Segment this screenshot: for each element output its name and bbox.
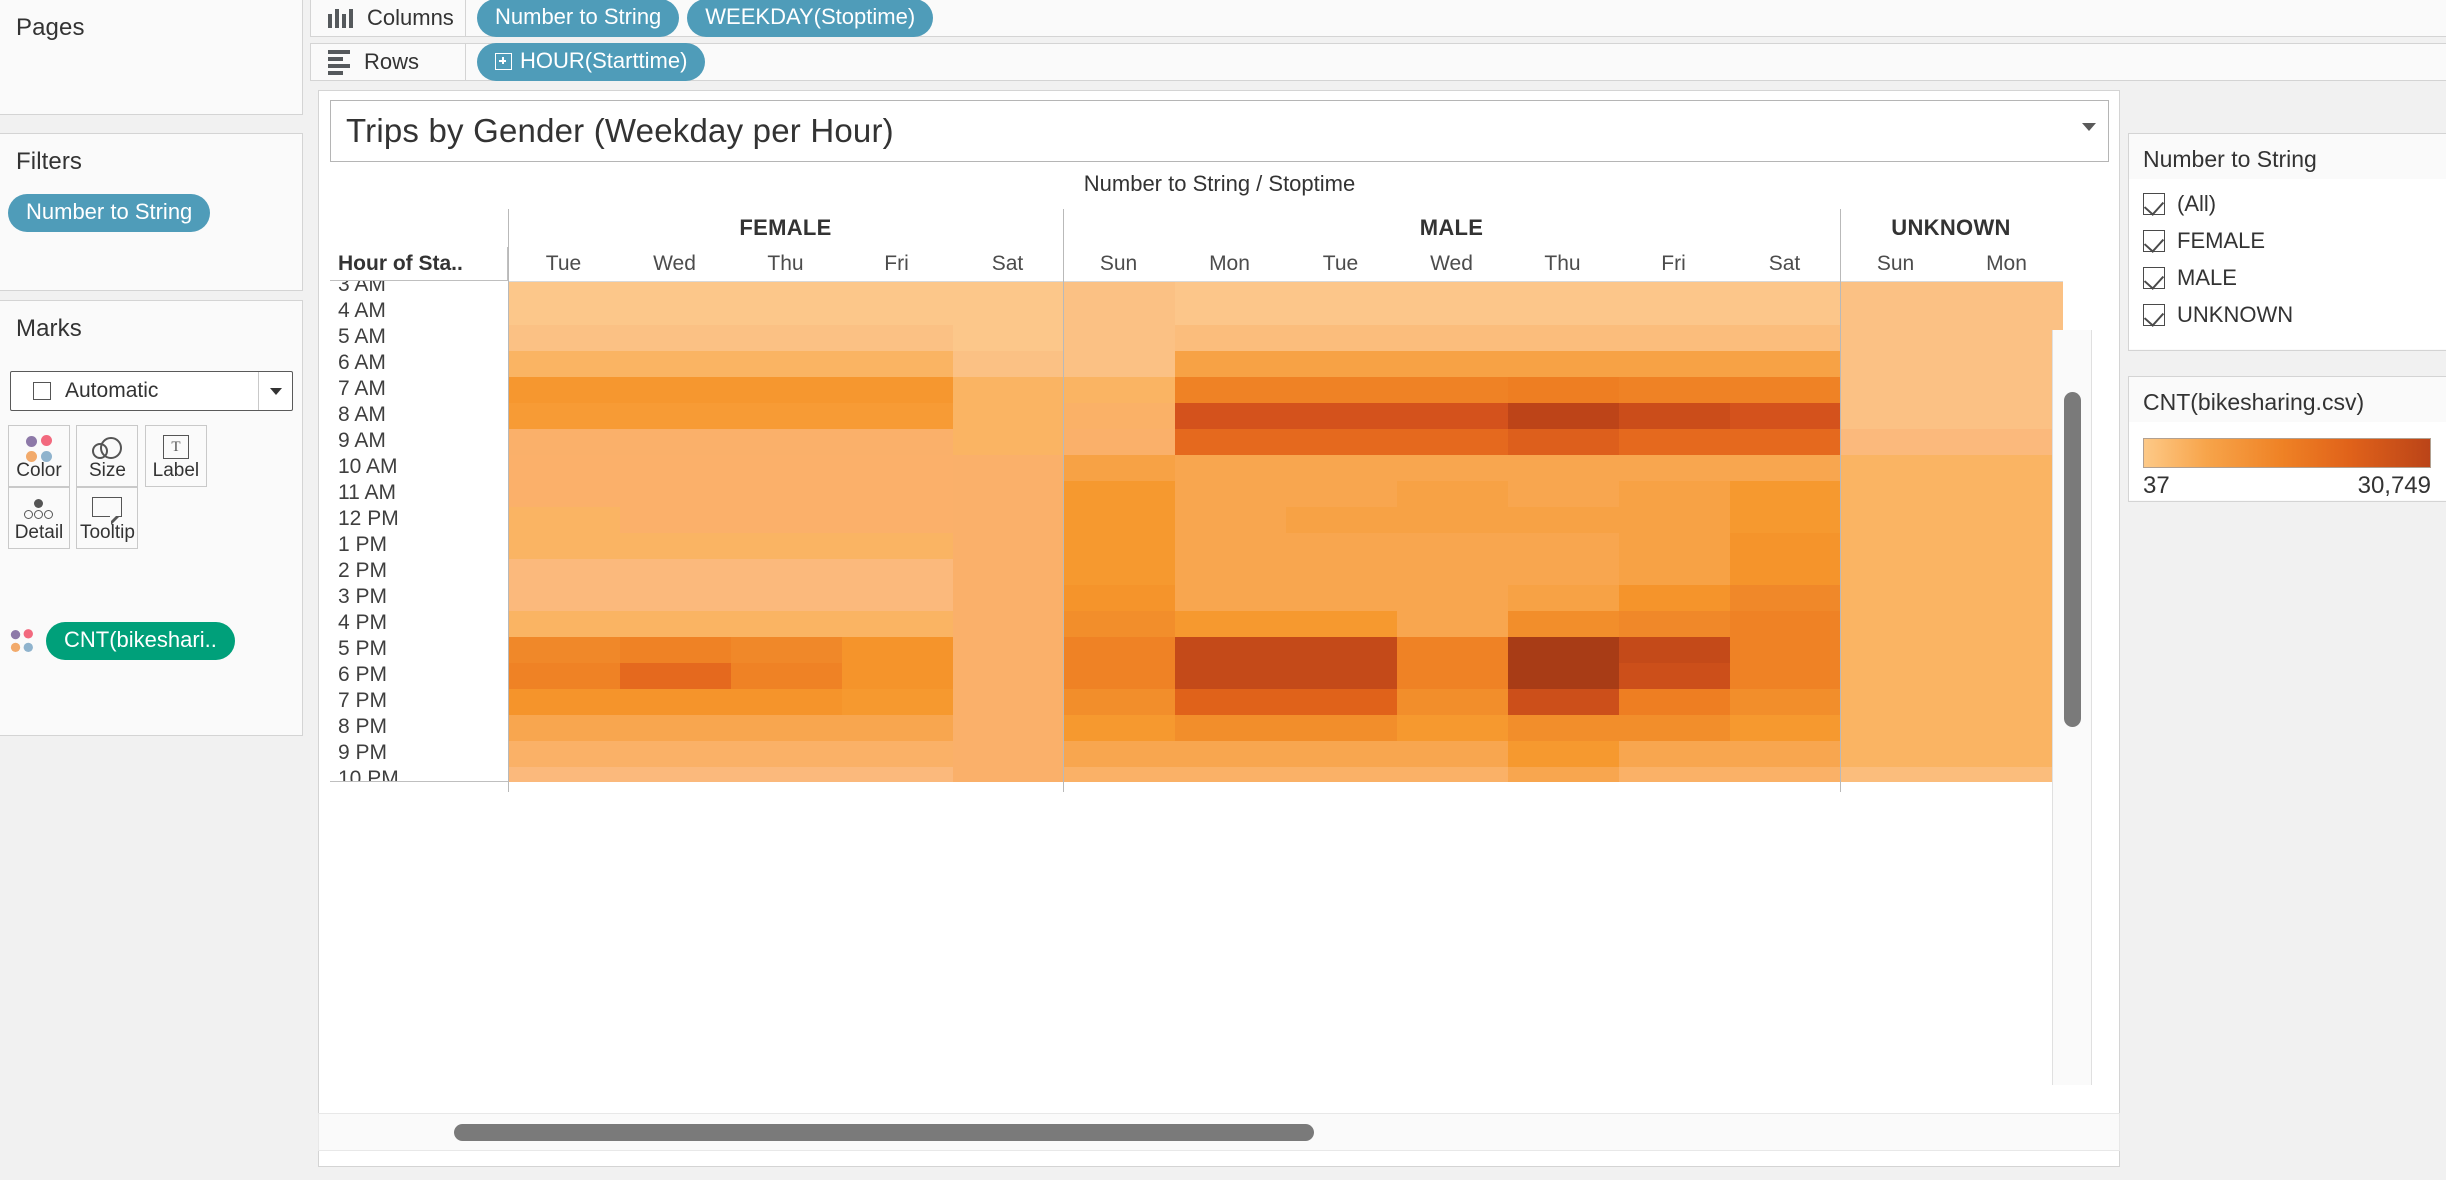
heatmap-cell[interactable] — [1508, 689, 1619, 715]
day-header-male-tue[interactable]: Tue — [1285, 247, 1396, 281]
heatmap-cell[interactable] — [1619, 455, 1730, 481]
heatmap-cell[interactable] — [1952, 481, 2063, 507]
heatmap-cell[interactable] — [1286, 715, 1397, 741]
heatmap-cell[interactable] — [509, 689, 620, 715]
filter-item-unknown[interactable]: UNKNOWN — [2143, 296, 2446, 333]
heatmap-cell[interactable] — [1175, 559, 1286, 585]
checkbox-icon[interactable] — [2143, 193, 2165, 215]
heatmap-cell[interactable] — [953, 507, 1064, 533]
heatmap-cell[interactable] — [1841, 637, 1952, 663]
hour-label[interactable]: 3 AM — [330, 281, 399, 298]
heatmap-cell[interactable] — [1286, 741, 1397, 767]
heatmap-cell[interactable] — [509, 663, 620, 689]
heatmap-cell[interactable] — [1619, 429, 1730, 455]
heatmap-cell[interactable] — [1508, 507, 1619, 533]
day-header-male-mon[interactable]: Mon — [1174, 247, 1285, 281]
heatmap-cell[interactable] — [842, 611, 953, 637]
heatmap-cell[interactable] — [509, 715, 620, 741]
checkbox-icon[interactable] — [2143, 304, 2165, 326]
heatmap-cell[interactable] — [1286, 281, 1397, 299]
heatmap-cell[interactable] — [1619, 351, 1730, 377]
heatmap-cell[interactable] — [620, 481, 731, 507]
heatmap-cell[interactable] — [509, 429, 620, 455]
heatmap-cell[interactable] — [1397, 741, 1508, 767]
heatmap-cell[interactable] — [1730, 377, 1841, 403]
heatmap-cell[interactable] — [842, 715, 953, 741]
heatmap-cell[interactable] — [1841, 585, 1952, 611]
heatmap-cell[interactable] — [620, 611, 731, 637]
heatmap-cell[interactable] — [1841, 403, 1952, 429]
heatmap-cell[interactable] — [1508, 429, 1619, 455]
group-header-male[interactable]: MALE — [1063, 209, 1840, 247]
heatmap-cell[interactable] — [842, 377, 953, 403]
heatmap-cell[interactable] — [1619, 325, 1730, 351]
heatmap-cell[interactable] — [620, 585, 731, 611]
heatmap-cell[interactable] — [1619, 403, 1730, 429]
hour-label[interactable]: 5 AM — [330, 324, 399, 350]
heatmap-cell[interactable] — [1952, 533, 2063, 559]
heatmap-cell[interactable] — [1397, 715, 1508, 741]
heatmap-cell[interactable] — [842, 325, 953, 351]
heatmap-cell[interactable] — [1841, 455, 1952, 481]
heatmap-cell[interactable] — [953, 767, 1064, 782]
heatmap-cell[interactable] — [1397, 429, 1508, 455]
heatmap-cell[interactable] — [1064, 429, 1175, 455]
heatmap-cell[interactable] — [842, 689, 953, 715]
heatmap-cell[interactable] — [1175, 325, 1286, 351]
heatmap-cell[interactable] — [1841, 689, 1952, 715]
heatmap-cell[interactable] — [1397, 689, 1508, 715]
heatmap-cell[interactable] — [842, 455, 953, 481]
columns-pill-number-to-string[interactable]: Number to String — [477, 0, 679, 37]
heatmap-cell[interactable] — [620, 429, 731, 455]
heatmap-cell[interactable] — [953, 325, 1064, 351]
heatmap-cell[interactable] — [1286, 533, 1397, 559]
heatmap-cell[interactable] — [1175, 351, 1286, 377]
heatmap-cell[interactable] — [1286, 559, 1397, 585]
hour-label[interactable]: 9 PM — [330, 740, 399, 766]
heatmap-cell[interactable] — [1397, 507, 1508, 533]
heatmap-cell[interactable] — [1175, 507, 1286, 533]
heatmap-cell[interactable] — [1841, 281, 1952, 299]
heatmap-cell[interactable] — [1730, 533, 1841, 559]
group-header-unknown[interactable]: UNKNOWN — [1840, 209, 2062, 247]
heatmap-cell[interactable] — [953, 741, 1064, 767]
heatmap-cell[interactable] — [1175, 663, 1286, 689]
checkbox-icon[interactable] — [2143, 230, 2165, 252]
heatmap-cell[interactable] — [731, 403, 842, 429]
heatmap-cell[interactable] — [1619, 481, 1730, 507]
heatmap-cell[interactable] — [1841, 559, 1952, 585]
heatmap-cell[interactable] — [1952, 403, 2063, 429]
heatmap-cell[interactable] — [1286, 299, 1397, 325]
heatmap-cell[interactable] — [509, 741, 620, 767]
heatmap-cell[interactable] — [1952, 637, 2063, 663]
heatmap-cell[interactable] — [1619, 299, 1730, 325]
heatmap-cell[interactable] — [953, 299, 1064, 325]
heatmap-cell[interactable] — [1841, 507, 1952, 533]
heatmap-cell[interactable] — [1064, 663, 1175, 689]
heatmap-cell[interactable] — [1175, 455, 1286, 481]
heatmap-cell[interactable] — [620, 403, 731, 429]
heatmap-cell[interactable] — [1841, 767, 1952, 782]
heatmap-cell[interactable] — [509, 481, 620, 507]
heatmap-cell[interactable] — [509, 611, 620, 637]
heatmap-cell[interactable] — [620, 299, 731, 325]
hour-label[interactable]: 6 PM — [330, 662, 399, 688]
heatmap-cell[interactable] — [953, 455, 1064, 481]
heatmap-cell[interactable] — [1064, 377, 1175, 403]
heatmap-cell[interactable] — [1841, 325, 1952, 351]
heatmap-cell[interactable] — [1286, 611, 1397, 637]
heatmap-cell[interactable] — [1508, 377, 1619, 403]
checkbox-icon[interactable] — [2143, 267, 2165, 289]
day-header-female-sat[interactable]: Sat — [952, 247, 1063, 281]
heatmap-cell[interactable] — [1064, 455, 1175, 481]
heatmap-cell[interactable] — [953, 377, 1064, 403]
heatmap-cell[interactable] — [509, 299, 620, 325]
heatmap-cell[interactable] — [1175, 403, 1286, 429]
heatmap-cell[interactable] — [509, 507, 620, 533]
chevron-down-icon[interactable] — [258, 372, 292, 410]
heatmap-cell[interactable] — [1730, 585, 1841, 611]
heatmap-cell[interactable] — [1508, 533, 1619, 559]
day-header-unknown-mon[interactable]: Mon — [1951, 247, 2062, 281]
heatmap-cell[interactable] — [1508, 611, 1619, 637]
heatmap-cell[interactable] — [731, 429, 842, 455]
hour-label[interactable]: 8 AM — [330, 402, 399, 428]
day-header-female-fri[interactable]: Fri — [841, 247, 952, 281]
heatmap-cell[interactable] — [1619, 715, 1730, 741]
heatmap-cell[interactable] — [1175, 741, 1286, 767]
rows-pill-hour-starttime[interactable]: HOUR(Starttime) — [477, 43, 705, 81]
heatmap-cell[interactable] — [509, 281, 620, 299]
heatmap-cell[interactable] — [842, 351, 953, 377]
heatmap-cell[interactable] — [509, 559, 620, 585]
heatmap-cell[interactable] — [1619, 585, 1730, 611]
heatmap-cell[interactable] — [842, 741, 953, 767]
heatmap-cell[interactable] — [1952, 689, 2063, 715]
heatmap-cell[interactable] — [842, 507, 953, 533]
heatmap-cell[interactable] — [1841, 429, 1952, 455]
heatmap-cell[interactable] — [1508, 767, 1619, 782]
heatmap-cell[interactable] — [1730, 481, 1841, 507]
hour-label[interactable]: 9 AM — [330, 428, 399, 454]
day-header-unknown-sun[interactable]: Sun — [1840, 247, 1951, 281]
heatmap-cell[interactable] — [953, 351, 1064, 377]
rows-shelf[interactable]: Rows HOUR(Starttime) — [310, 43, 2446, 81]
day-header-male-fri[interactable]: Fri — [1618, 247, 1729, 281]
heatmap-cell[interactable] — [1619, 533, 1730, 559]
day-header-male-sun[interactable]: Sun — [1063, 247, 1174, 281]
heatmap-cell[interactable] — [1841, 533, 1952, 559]
heatmap-cell[interactable] — [1730, 351, 1841, 377]
heatmap-cell[interactable] — [1286, 325, 1397, 351]
heatmap-cell[interactable] — [1730, 767, 1841, 782]
heatmap-cell[interactable] — [620, 741, 731, 767]
heatmap-cell[interactable] — [1952, 741, 2063, 767]
heatmap-cell[interactable] — [842, 429, 953, 455]
heatmap-cell[interactable] — [1730, 429, 1841, 455]
heatmap-cell[interactable] — [1064, 299, 1175, 325]
heatmap-cell[interactable] — [1730, 741, 1841, 767]
heatmap-cell[interactable] — [1286, 663, 1397, 689]
heatmap-cell[interactable] — [1286, 689, 1397, 715]
heatmap-cell[interactable] — [620, 689, 731, 715]
heatmap-cell[interactable] — [1619, 281, 1730, 299]
heatmap-cell[interactable] — [953, 481, 1064, 507]
heatmap-cell[interactable] — [1508, 481, 1619, 507]
heatmap-cell[interactable] — [1286, 429, 1397, 455]
label-button[interactable]: T Label — [145, 425, 207, 487]
heatmap-cell[interactable] — [731, 325, 842, 351]
hour-label[interactable]: 6 AM — [330, 350, 399, 376]
heatmap-cell[interactable] — [1397, 637, 1508, 663]
heatmap-cell[interactable] — [1508, 325, 1619, 351]
heatmap-cell[interactable] — [1952, 715, 2063, 741]
heatmap-cell[interactable] — [509, 377, 620, 403]
heatmap-cell[interactable] — [1730, 455, 1841, 481]
heatmap-cell[interactable] — [1286, 767, 1397, 782]
day-header-male-wed[interactable]: Wed — [1396, 247, 1507, 281]
heatmap-cell[interactable] — [1397, 351, 1508, 377]
heatmap-cell[interactable] — [620, 455, 731, 481]
columns-pill-weekday-stoptime[interactable]: WEEKDAY(Stoptime) — [687, 0, 933, 37]
heatmap-cell[interactable] — [1952, 559, 2063, 585]
heatmap-cell[interactable] — [509, 325, 620, 351]
columns-shelf[interactable]: Columns Number to String WEEKDAY(Stoptim… — [310, 0, 2446, 37]
heatmap-cell[interactable] — [731, 455, 842, 481]
heatmap-cell[interactable] — [1286, 585, 1397, 611]
heatmap-cell[interactable] — [1730, 299, 1841, 325]
heatmap-cell[interactable] — [731, 689, 842, 715]
heatmap-cell[interactable] — [1730, 611, 1841, 637]
heatmap-cell[interactable] — [1952, 585, 2063, 611]
heatmap-cell[interactable] — [620, 377, 731, 403]
heatmap-cell[interactable] — [731, 767, 842, 782]
heatmap-cell[interactable] — [731, 507, 842, 533]
filter-pill-number-to-string[interactable]: Number to String — [8, 194, 210, 232]
heatmap-cell[interactable] — [1508, 403, 1619, 429]
heatmap-cell[interactable] — [1841, 351, 1952, 377]
heatmap-cell[interactable] — [1286, 377, 1397, 403]
heatmap-cell[interactable] — [1508, 715, 1619, 741]
heatmap-cell[interactable] — [1619, 741, 1730, 767]
heatmap-cell[interactable] — [1397, 325, 1508, 351]
heatmap-cell[interactable] — [1397, 481, 1508, 507]
heatmap-cell[interactable] — [1952, 351, 2063, 377]
heatmap-cell[interactable] — [731, 715, 842, 741]
heatmap-cell[interactable] — [620, 281, 731, 299]
heatmap-cell[interactable] — [842, 559, 953, 585]
heatmap-cell[interactable] — [1397, 403, 1508, 429]
heatmap-cell[interactable] — [953, 559, 1064, 585]
heatmap-cell[interactable] — [842, 403, 953, 429]
heatmap-cell[interactable] — [1064, 533, 1175, 559]
heatmap-cell[interactable] — [1619, 507, 1730, 533]
day-header-female-tue[interactable]: Tue — [508, 247, 619, 281]
heatmap-cell[interactable] — [1064, 281, 1175, 299]
heatmap-cell[interactable] — [509, 585, 620, 611]
heatmap-cell[interactable] — [1397, 299, 1508, 325]
heatmap-cell[interactable] — [953, 663, 1064, 689]
heatmap-cell[interactable] — [1730, 281, 1841, 299]
heatmap-cell[interactable] — [1952, 767, 2063, 782]
heatmap-cell[interactable] — [731, 281, 842, 299]
heatmap-cell[interactable] — [1841, 299, 1952, 325]
heatmap-cell[interactable] — [1730, 663, 1841, 689]
heatmap-cell[interactable] — [1508, 299, 1619, 325]
heatmap-cell[interactable] — [620, 559, 731, 585]
hour-label[interactable]: 2 PM — [330, 558, 399, 584]
heatmap-cell[interactable] — [1619, 663, 1730, 689]
heatmap-cell[interactable] — [842, 767, 953, 782]
heatmap-cell[interactable] — [731, 377, 842, 403]
heatmap-cell[interactable] — [1952, 377, 2063, 403]
heatmap-cell[interactable] — [1064, 507, 1175, 533]
heatmap-cell[interactable] — [1064, 637, 1175, 663]
heatmap-cell[interactable] — [731, 663, 842, 689]
hour-label[interactable]: 10 AM — [330, 454, 399, 480]
heatmap-cell[interactable] — [1064, 767, 1175, 782]
heatmap-cell[interactable] — [731, 481, 842, 507]
heatmap-cell[interactable] — [1397, 611, 1508, 637]
heatmap-cell[interactable] — [842, 299, 953, 325]
heatmap-cell[interactable] — [1175, 299, 1286, 325]
heatmap-cell[interactable] — [1730, 325, 1841, 351]
heatmap-cell[interactable] — [1508, 585, 1619, 611]
hour-label[interactable]: 8 PM — [330, 714, 399, 740]
heatmap-cell[interactable] — [731, 611, 842, 637]
heatmap-cell[interactable] — [953, 585, 1064, 611]
heatmap-cell[interactable] — [1730, 637, 1841, 663]
heatmap-cell[interactable] — [1730, 689, 1841, 715]
heatmap-cell[interactable] — [1508, 455, 1619, 481]
heatmap-cell[interactable] — [953, 715, 1064, 741]
hour-label[interactable]: 7 AM — [330, 376, 399, 402]
heatmap-cell[interactable] — [1175, 689, 1286, 715]
heatmap-cell[interactable] — [842, 585, 953, 611]
color-ramp[interactable] — [2143, 438, 2431, 468]
heatmap-cell[interactable] — [1064, 559, 1175, 585]
heatmap-cell[interactable] — [1952, 507, 2063, 533]
heatmap-cell[interactable] — [1730, 403, 1841, 429]
worksheet-title-box[interactable]: Trips by Gender (Weekday per Hour) — [330, 100, 2109, 162]
heatmap-cell[interactable] — [1952, 281, 2063, 299]
group-header-female[interactable]: FEMALE — [508, 209, 1063, 247]
heatmap-cell[interactable] — [1730, 507, 1841, 533]
heatmap-cell[interactable] — [1175, 715, 1286, 741]
heatmap-cell[interactable] — [1064, 481, 1175, 507]
heatmap-cell[interactable] — [620, 351, 731, 377]
heatmap-cell[interactable] — [1508, 663, 1619, 689]
heatmap-cell[interactable] — [1730, 715, 1841, 741]
hour-label[interactable]: 4 AM — [330, 298, 399, 324]
heatmap-cell[interactable] — [620, 507, 731, 533]
heatmap-cell[interactable] — [1397, 559, 1508, 585]
heatmap-cell[interactable] — [1730, 559, 1841, 585]
heatmap-cell[interactable] — [731, 741, 842, 767]
heatmap-cell[interactable] — [731, 585, 842, 611]
heatmap-cell[interactable] — [509, 351, 620, 377]
heatmap-cell[interactable] — [1952, 429, 2063, 455]
heatmap-cell[interactable] — [1952, 455, 2063, 481]
mark-type-select[interactable]: Automatic — [10, 371, 293, 411]
heatmap-cell[interactable] — [1064, 403, 1175, 429]
hour-label[interactable]: 7 PM — [330, 688, 399, 714]
heatmap-cell[interactable] — [1286, 455, 1397, 481]
heatmap-cell[interactable] — [1841, 377, 1952, 403]
marks-color-pill[interactable]: CNT(bikeshari.. — [46, 622, 235, 660]
hour-label[interactable]: 3 PM — [330, 584, 399, 610]
heatmap-cell[interactable] — [509, 767, 620, 782]
heatmap-cell[interactable] — [1841, 741, 1952, 767]
heatmap-cell[interactable] — [620, 715, 731, 741]
heatmap-cell[interactable] — [731, 559, 842, 585]
hour-label[interactable]: 5 PM — [330, 636, 399, 662]
heatmap-cell[interactable] — [1841, 481, 1952, 507]
heatmap-cell[interactable] — [1397, 663, 1508, 689]
heatmap-cell[interactable] — [1397, 281, 1508, 299]
horizontal-scrollbar-thumb[interactable] — [454, 1124, 1314, 1141]
heatmap-cell[interactable] — [1397, 767, 1508, 782]
heatmap-cell[interactable] — [731, 533, 842, 559]
heatmap-cell[interactable] — [1508, 741, 1619, 767]
vertical-scrollbar-thumb[interactable] — [2064, 392, 2081, 727]
day-header-male-sat[interactable]: Sat — [1729, 247, 1840, 281]
heatmap-cell[interactable] — [842, 637, 953, 663]
heatmap-cell[interactable] — [1175, 611, 1286, 637]
hour-label[interactable]: 4 PM — [330, 610, 399, 636]
heatmap-cell[interactable] — [953, 403, 1064, 429]
heatmap-cell[interactable] — [1397, 455, 1508, 481]
heatmap-cell[interactable] — [1175, 637, 1286, 663]
heatmap-cell[interactable] — [1841, 715, 1952, 741]
heatmap-cell[interactable] — [1064, 689, 1175, 715]
heatmap-cell[interactable] — [1619, 637, 1730, 663]
heatmap-cell[interactable] — [1286, 403, 1397, 429]
heatmap-cell[interactable] — [1619, 689, 1730, 715]
heatmap-cell[interactable] — [1064, 741, 1175, 767]
heatmap-cell[interactable] — [1508, 351, 1619, 377]
heatmap-cell[interactable] — [842, 533, 953, 559]
heatmap-cell[interactable] — [1175, 767, 1286, 782]
color-button[interactable]: Color — [8, 425, 70, 487]
heatmap-cell[interactable] — [1508, 559, 1619, 585]
heatmap-cell[interactable] — [953, 429, 1064, 455]
heatmap-cell[interactable] — [1175, 533, 1286, 559]
heatmap-cell[interactable] — [1619, 377, 1730, 403]
heatmap-cell[interactable] — [1064, 325, 1175, 351]
heatmap-cell[interactable] — [1064, 715, 1175, 741]
day-header-female-wed[interactable]: Wed — [619, 247, 730, 281]
heatmap-cell[interactable] — [953, 611, 1064, 637]
heatmap-cell[interactable] — [1841, 663, 1952, 689]
heatmap-cell[interactable] — [1175, 281, 1286, 299]
hour-label[interactable]: 12 PM — [330, 506, 399, 532]
heatmap-cell[interactable] — [1064, 585, 1175, 611]
hour-label[interactable]: 10 PM — [330, 766, 399, 782]
size-button[interactable]: Size — [76, 425, 138, 487]
heatmap-cell[interactable] — [953, 689, 1064, 715]
heatmap-cell[interactable] — [1619, 611, 1730, 637]
heatmap-cell[interactable] — [1286, 637, 1397, 663]
heatmap-cell[interactable] — [509, 637, 620, 663]
heatmap-cell[interactable] — [731, 637, 842, 663]
heatmap-cell[interactable] — [1952, 663, 2063, 689]
heatmap-cell[interactable] — [620, 325, 731, 351]
heatmap-cell[interactable] — [1064, 351, 1175, 377]
